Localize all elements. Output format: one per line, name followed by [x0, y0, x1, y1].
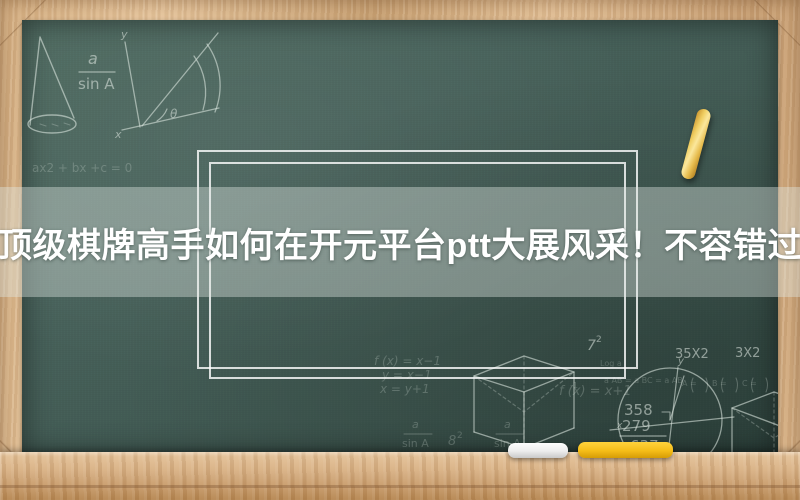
yellow-chalk-icon [578, 442, 673, 458]
chalk-ledge [0, 452, 800, 500]
chalkboard-banner: a sin A y x θ ax2 + bx +c = 0 f (x) = x−… [0, 0, 800, 500]
ledge-lip [0, 485, 800, 488]
page-title: 看顶级棋牌高手如何在开元平台ptt大展风采！不容错过！ [0, 187, 800, 297]
white-chalk-icon [508, 443, 568, 458]
